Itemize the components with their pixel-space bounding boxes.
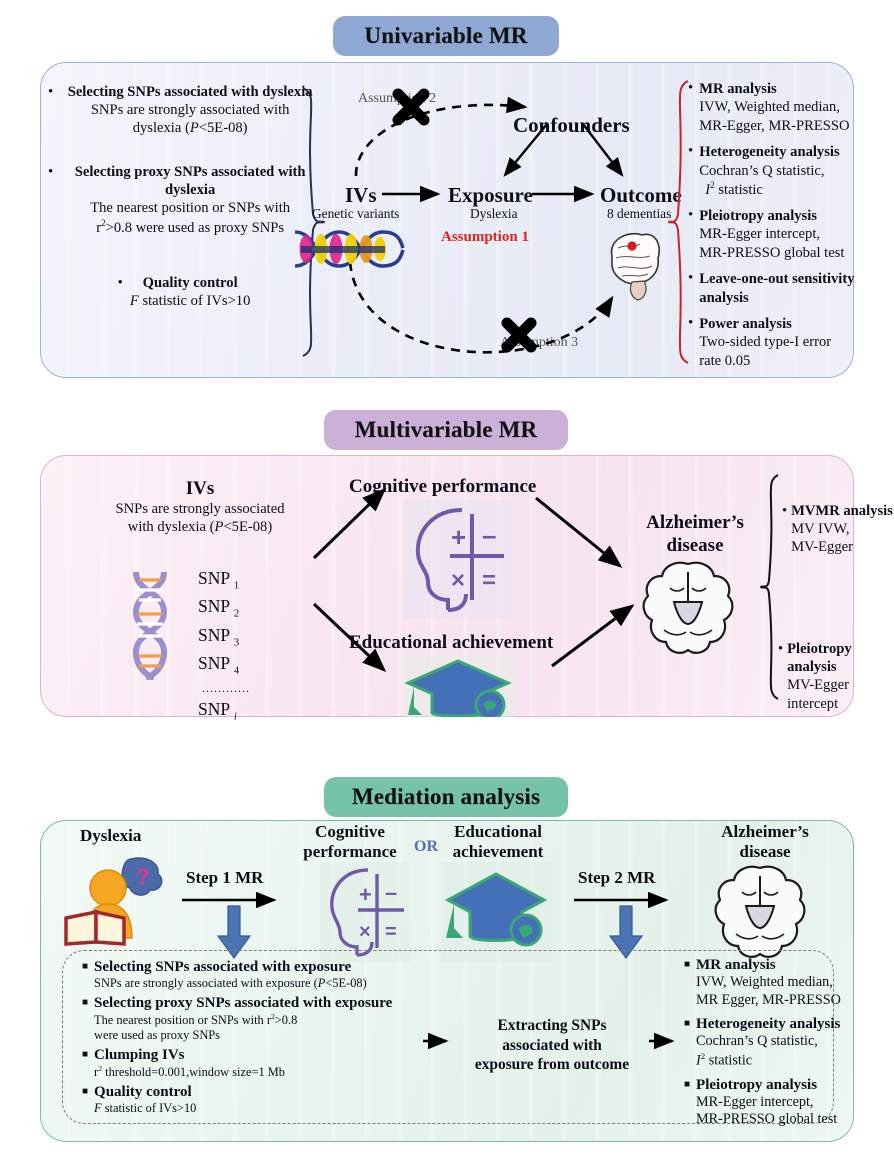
mediator-b-line-1: Educational: [432, 822, 564, 842]
item-title: Pleiotropy analysis: [699, 207, 844, 225]
mediation-middle-text: Extracting SNPs associated with exposure…: [452, 1016, 652, 1075]
dna-helix-icon: [128, 570, 172, 680]
list-item: • Selecting SNPs associated with dyslexi…: [48, 84, 320, 138]
bullet-icon: •: [688, 315, 693, 370]
list-item: • Heterogeneity analysis Cochran’s Q sta…: [688, 143, 888, 199]
mv-pleiotropy-item: • Pleiotropy analysis MV-Egger intercept: [778, 640, 894, 713]
middle-line-3: exposure from outcome: [452, 1055, 652, 1075]
mediator-a-line-2: performance: [290, 842, 410, 862]
univariable-mr-header: Univariable MR: [333, 16, 559, 56]
bullet-icon: ■: [684, 1015, 690, 1070]
list-item: • Quality control F statistic of IVs>10: [48, 275, 320, 311]
item-detail-line: SNPs are strongly associated with exposu…: [94, 976, 367, 991]
item-detail-line: MR-PRESSO global test: [699, 244, 844, 262]
item-detail-line: MR-Egger intercept,: [696, 1094, 837, 1111]
item-detail-line: Cochran’s Q statistic,: [699, 162, 839, 180]
bullet-icon: •: [48, 84, 53, 138]
list-item: • Power analysis Two-sided type-I error …: [688, 315, 888, 370]
item-detail-line: were used as proxy SNPs: [94, 1028, 392, 1043]
mediator-b-line-2: achievement: [432, 842, 564, 862]
list-item: SNP i: [198, 697, 250, 725]
item-title: Clumping IVs: [94, 1046, 285, 1064]
univariable-left-list: • Selecting SNPs associated with dyslexi…: [48, 84, 320, 311]
item-detail-line: SNPs are strongly associated: [60, 500, 340, 518]
mediation-analysis-header: Mediation analysis: [324, 777, 568, 817]
item-detail-line: MV IVW,: [791, 520, 893, 538]
univariable-right-list: • MR analysis IVW, Weighted median, MR-E…: [688, 80, 888, 370]
list-item: • Selecting proxy SNPs associated with d…: [48, 164, 320, 238]
bullet-icon: •: [688, 80, 693, 135]
univariable-mr-title: Univariable MR: [364, 23, 527, 49]
cross-icon: [507, 323, 531, 347]
item-detail-line: F statistic of IVs>10: [94, 1101, 196, 1116]
item-detail-line: I2 statistic: [696, 1051, 840, 1070]
bullet-icon: •: [782, 502, 787, 557]
bullet-icon: ■: [684, 956, 690, 1009]
med-outcome-label: Alzheimer’s disease: [700, 822, 830, 863]
list-item: ■ MR analysis IVW, Weighted median, MR E…: [684, 956, 864, 1009]
item-detail-line: I2 statistic: [699, 180, 839, 199]
bullet-icon: •: [48, 164, 53, 238]
item-title: Power analysis: [699, 315, 831, 333]
middle-line-1: Extracting SNPs: [452, 1016, 652, 1036]
multivariable-mr-header: Multivariable MR: [324, 410, 568, 450]
item-detail-line: rate 0.05: [699, 352, 831, 370]
item-title: Selecting proxy SNPs associated with exp…: [94, 994, 392, 1012]
list-item: ■ Clumping IVs r2 threshold=0.001,window…: [82, 1046, 442, 1080]
list-item: ■ Quality control F statistic of IVs>10: [82, 1083, 442, 1116]
list-item: ■ Heterogeneity analysis Cochran’s Q sta…: [684, 1015, 864, 1070]
bullet-icon: •: [688, 270, 693, 307]
item-title: MR analysis: [696, 956, 841, 974]
item-detail-line: r2 threshold=0.001,window size=1 Mb: [94, 1064, 285, 1080]
item-title: Pleiotropy analysis: [696, 1076, 837, 1094]
bullet-icon: ■: [82, 1046, 88, 1080]
list-item: SNP 3: [198, 623, 250, 651]
item-detail-line: dyslexia (P<5E-08): [60, 120, 320, 138]
list-item: SNP 2: [198, 594, 250, 622]
bullet-icon: •: [688, 207, 693, 262]
item-title: Heterogeneity analysis: [696, 1015, 840, 1033]
mediation-analysis-title: Mediation analysis: [352, 784, 540, 810]
multivariable-mr-title: Multivariable MR: [355, 417, 538, 443]
svg-text:+: +: [359, 882, 372, 907]
cross-icon: [398, 94, 424, 120]
graduation-cap-icon: [442, 862, 552, 962]
svg-text:–: –: [385, 880, 397, 905]
item-title: Quality control: [130, 275, 251, 293]
item-title: Selecting SNPs associated with dyslexia: [60, 84, 320, 102]
item-detail-line: r2>0.8 were used as proxy SNPs: [60, 218, 320, 238]
mediation-right-list: ■ MR analysis IVW, Weighted median, MR E…: [684, 956, 864, 1129]
item-title: Heterogeneity analysis: [699, 143, 839, 161]
item-title: Selecting SNPs associated with exposure: [94, 958, 367, 976]
item-detail-line: MR-Egger, MR-PRESSO: [699, 117, 849, 135]
brain-coronal-icon: [712, 862, 808, 962]
item-detail-line: IVW, Weighted median,: [699, 98, 849, 116]
med-mediator-b-label: Educational achievement: [432, 822, 564, 863]
item-detail-line: IVW, Weighted median,: [696, 974, 841, 991]
svg-text:=: =: [385, 921, 397, 943]
multivariable-arrows: [300, 470, 700, 710]
item-detail-line: F statistic of IVs>10: [130, 293, 251, 311]
list-item: ■ Selecting proxy SNPs associated with e…: [82, 994, 442, 1043]
item-detail-line: Cochran’s Q statistic,: [696, 1033, 840, 1050]
outcome-line-2: disease: [700, 842, 830, 862]
brain-icon: [598, 226, 664, 304]
mv-ivs-detail: SNPs are strongly associated with dyslex…: [60, 500, 340, 536]
outcome-line-1: Alzheimer’s: [700, 822, 830, 842]
item-detail-line: The nearest position or SNPs with: [60, 200, 320, 218]
mv-ivs-title: IVs: [100, 478, 300, 500]
svg-text:×: ×: [359, 921, 371, 943]
mediator-a-line-1: Cognitive: [290, 822, 410, 842]
item-detail-line: with dyslexia (P<5E-08): [60, 518, 340, 536]
mediation-arrow-1: [422, 1033, 456, 1049]
mediation-arrow-2: [648, 1033, 682, 1049]
person-reading-icon: ?: [62, 846, 172, 946]
item-title: Leave-one-out sensitivity analysis: [699, 270, 874, 307]
item-title: MR analysis: [699, 80, 849, 98]
list-item: SNP 4: [198, 651, 250, 679]
item-detail-line: MR Egger, MR-PRESSO: [696, 992, 841, 1009]
item-detail-line: SNPs are strongly associated with: [60, 102, 320, 120]
item-title: MVMR analysis: [791, 502, 893, 520]
middle-line-2: associated with: [452, 1036, 652, 1056]
bullet-icon: ■: [82, 994, 88, 1043]
item-detail-line: MR-PRESSO global test: [696, 1111, 837, 1128]
bullet-icon: •: [688, 143, 693, 199]
head-math-icon: + – × =: [320, 862, 410, 962]
list-item: ■ Pleiotropy analysis MR-Egger intercept…: [684, 1076, 864, 1129]
item-detail-line: MV-Egger: [791, 538, 893, 556]
bullet-icon: •: [118, 275, 123, 311]
item-title: Pleiotropy analysis: [787, 640, 894, 676]
list-item: ............: [198, 680, 250, 697]
list-item: SNP 1: [198, 566, 250, 594]
bullet-icon: ■: [82, 1083, 88, 1116]
mediation-left-list: ■ Selecting SNPs associated with exposur…: [82, 958, 442, 1116]
list-item: • MR analysis IVW, Weighted median, MR-E…: [688, 80, 888, 135]
item-detail-line: MR-Egger intercept,: [699, 225, 844, 243]
mvmr-analysis-item: • MVMR analysis MV IVW, MV-Egger: [782, 502, 894, 557]
med-exposure-label: Dyslexia: [80, 826, 141, 846]
item-title: Selecting proxy SNPs associated with dys…: [60, 164, 320, 200]
list-item: • Pleiotropy analysis MR-Egger intercept…: [688, 207, 888, 262]
list-item: • Leave-one-out sensitivity analysis: [688, 270, 888, 307]
item-detail-line: Two-sided type-I error: [699, 333, 831, 351]
step-1-mr-label: Step 1 MR: [186, 868, 263, 888]
bullet-icon: •: [778, 640, 783, 713]
item-detail-line: MV-Egger intercept: [787, 676, 894, 712]
bullet-icon: ■: [82, 958, 88, 991]
step-2-mr-label: Step 2 MR: [578, 868, 655, 888]
dna-helix-icon: [291, 228, 407, 270]
list-item: ■ Selecting SNPs associated with exposur…: [82, 958, 442, 991]
med-mediator-a-label: Cognitive performance: [290, 822, 410, 863]
item-title: Quality control: [94, 1083, 196, 1101]
snp-list: SNP 1 SNP 2 SNP 3 SNP 4 ............ SNP…: [198, 566, 250, 725]
item-detail-line: The nearest position or SNPs with r2>0.8: [94, 1012, 392, 1028]
bullet-icon: ■: [684, 1076, 690, 1129]
svg-text:?: ?: [136, 864, 149, 889]
